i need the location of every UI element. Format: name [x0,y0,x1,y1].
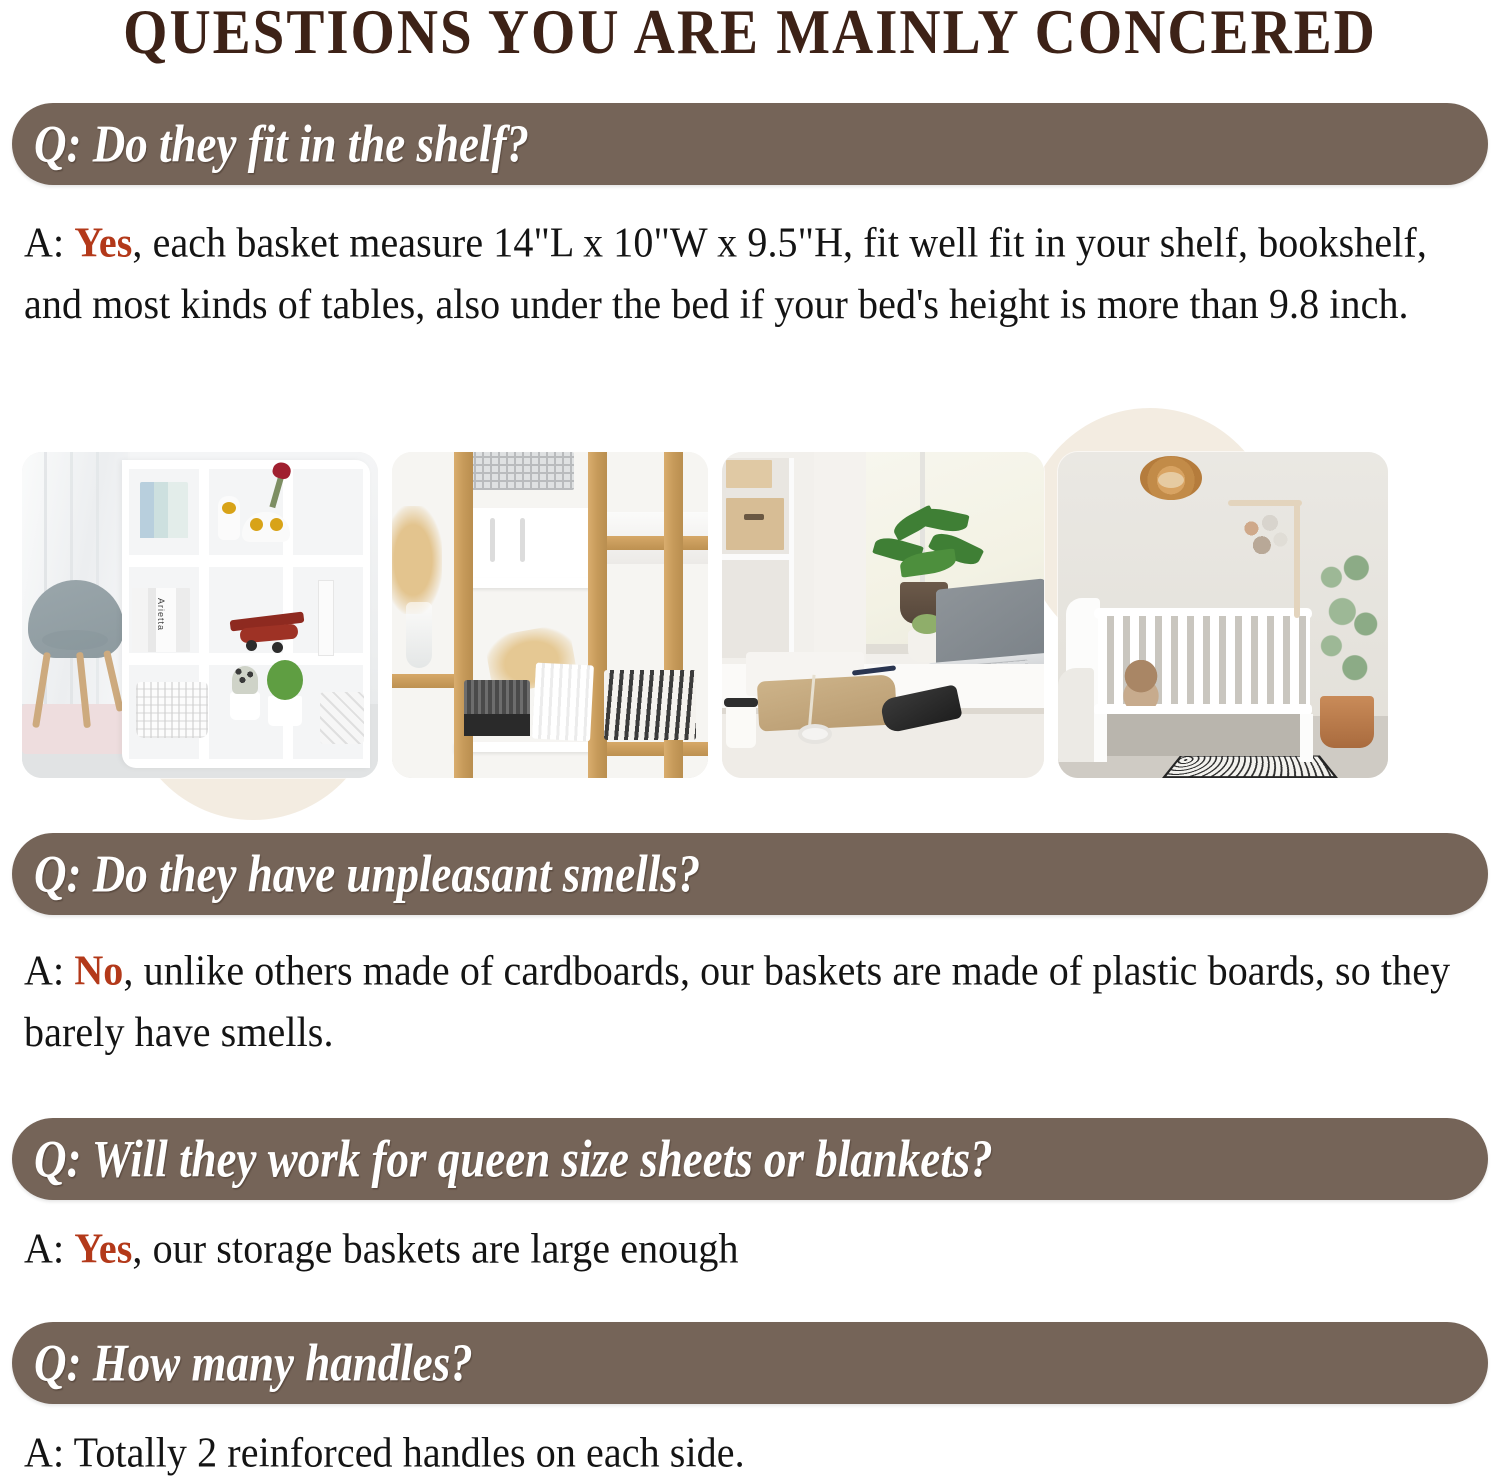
question-text: Q: Do they fit in the shelf? [12,113,529,174]
answer-unpleasant-smells: A: No, unlike others made of cardboards,… [24,940,1476,1063]
photo-strip [22,452,1474,778]
answer-rest: , our storage baskets are large enough [132,1224,738,1272]
photo-bookshelf-scene [22,452,378,778]
plant-icon [872,508,982,592]
page-title: QUESTIONS YOU ARE MAINLY CONCERED [0,0,1500,69]
cardboard-box-icon [726,498,784,550]
pampas-grass-icon [392,506,442,614]
dark-basket-icon [464,680,530,736]
question-banner-unpleasant-smells: Q: Do they have unpleasant smells? [12,833,1488,915]
answer-fit-in-shelf: A: Yes, each basket measure 14"L x 10"W … [24,212,1476,335]
photo-bamboo-rack-scene [392,452,708,778]
crib-mobile-icon [1234,506,1292,562]
answer-queen-size-sheets: A: Yes, our storage baskets are large en… [24,1218,1476,1279]
lion-wall-decor-icon [1140,456,1202,500]
cube-shelf-icon [122,460,370,768]
answer-prefix: A: [24,946,74,994]
photo-home-office [722,452,1044,778]
question-banner-queen-size-sheets: Q: Will they work for queen size sheets … [12,1118,1488,1200]
question-text: Q: How many handles? [12,1332,473,1393]
answer-highlight: Yes [74,218,132,266]
answer-prefix: A: Totally 2 reinforced handles on each … [24,1428,745,1476]
answer-prefix: A: [24,1224,74,1272]
question-banner-fit-in-shelf: Q: Do they fit in the shelf? [12,103,1488,185]
striped-basket-icon [604,670,696,740]
question-text: Q: Do they have unpleasant smells? [12,843,700,904]
photo-bookshelf [22,452,378,778]
photo-home-office-scene [722,452,1044,778]
answer-highlight: Yes [74,1224,132,1272]
answer-how-many-handles: A: Totally 2 reinforced handles on each … [24,1422,1476,1482]
faq-page: QUESTIONS YOU ARE MAINLY CONCERED Q: Do … [0,0,1500,1482]
potted-tree-icon [1308,546,1386,702]
crib-icon [1064,592,1314,762]
photo-nursery [1058,452,1388,778]
answer-rest: , each basket measure 14"L x 10"W x 9.5"… [24,218,1427,327]
white-basket-icon [532,663,594,742]
answer-prefix: A: [24,218,74,266]
answer-highlight: No [74,946,123,994]
plush-bear-icon [1120,660,1162,706]
photo-nursery-scene [1058,452,1388,778]
question-banner-how-many-handles: Q: How many handles? [12,1322,1488,1404]
question-text: Q: Will they work for queen size sheets … [12,1128,993,1189]
answer-rest: , unlike others made of cardboards, our … [24,946,1450,1055]
parcel-icon [757,674,897,731]
white-basket-icon [136,682,208,738]
photo-bamboo-rack [392,452,708,778]
